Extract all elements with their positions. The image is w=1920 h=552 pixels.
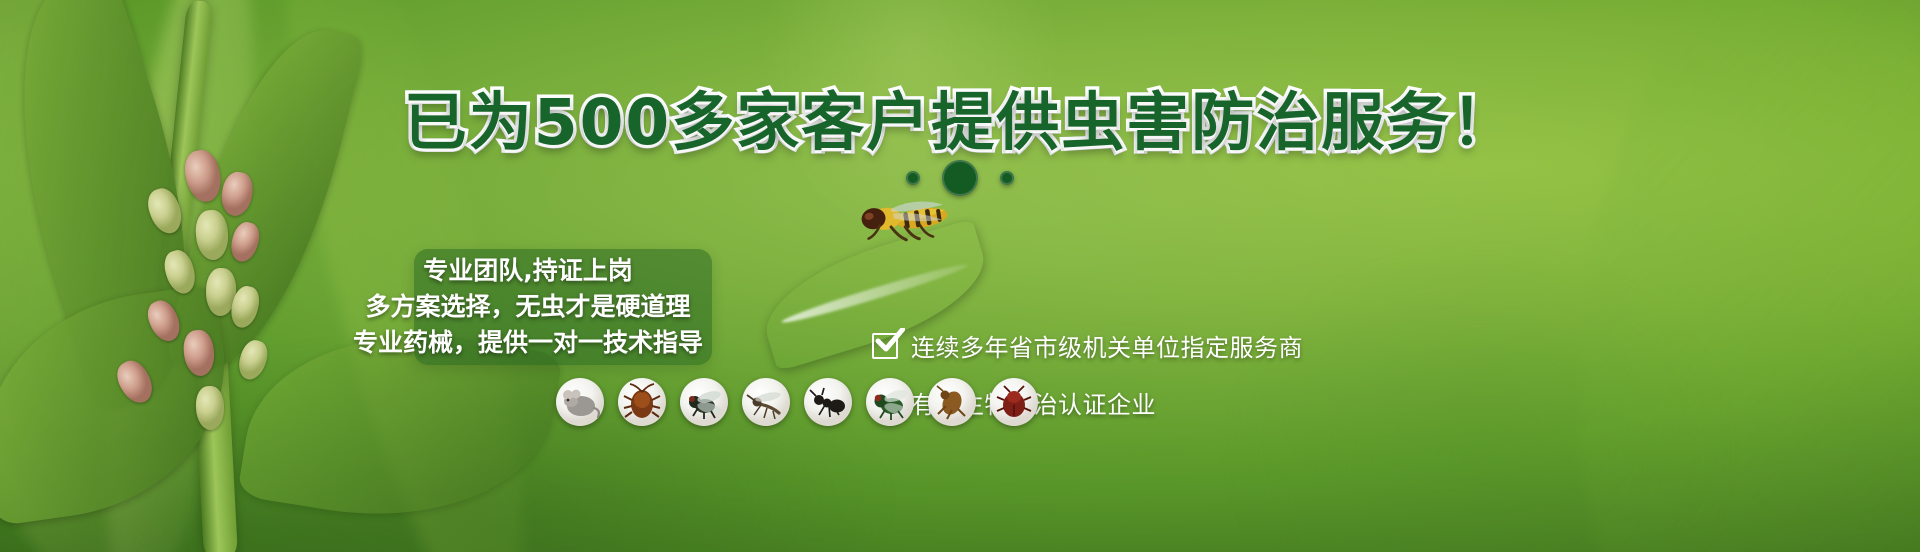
checkbox-checked-icon <box>872 333 898 359</box>
fly-icon[interactable] <box>680 378 728 426</box>
feature-line-1: 专业团队,持证上岗 <box>423 258 633 283</box>
feature-line-3: 专业药械，提供一对一技术指导 <box>353 330 703 355</box>
headline-text: 已为500多家客户提供虫害防治服务！ <box>404 86 1517 159</box>
dot-small-left <box>906 171 920 185</box>
feature-list: 专业团队,持证上岗 多方案选择，无虫才是硬道理 专业药械，提供一对一技术指导 <box>330 258 726 355</box>
ant-icon[interactable] <box>804 378 852 426</box>
page-title: 已为500多家客户提供虫害防治服务！ <box>0 72 1920 163</box>
flea-icon[interactable] <box>928 378 976 426</box>
cockroach-icon[interactable] <box>618 378 666 426</box>
mosquito-icon[interactable] <box>742 378 790 426</box>
blowfly-icon[interactable] <box>866 378 914 426</box>
credential-label-1: 连续多年省市级机关单位指定服务商 <box>911 328 1303 363</box>
pest-icon-row <box>556 378 1038 426</box>
feature-line-2: 多方案选择，无虫才是硬道理 <box>365 294 690 319</box>
mouse-icon[interactable] <box>556 378 604 426</box>
list-item: 连续多年省市级机关单位指定服务商 <box>872 328 1303 363</box>
dot-small-right <box>1000 171 1014 185</box>
dot-large-center <box>942 160 978 196</box>
promo-banner: 已为500多家客户提供虫害防治服务！ 专业团队,持证上岗 多方案选择，无虫才是硬… <box>0 0 1920 552</box>
decorative-dots <box>0 160 1920 196</box>
bedbug-icon[interactable] <box>990 378 1038 426</box>
